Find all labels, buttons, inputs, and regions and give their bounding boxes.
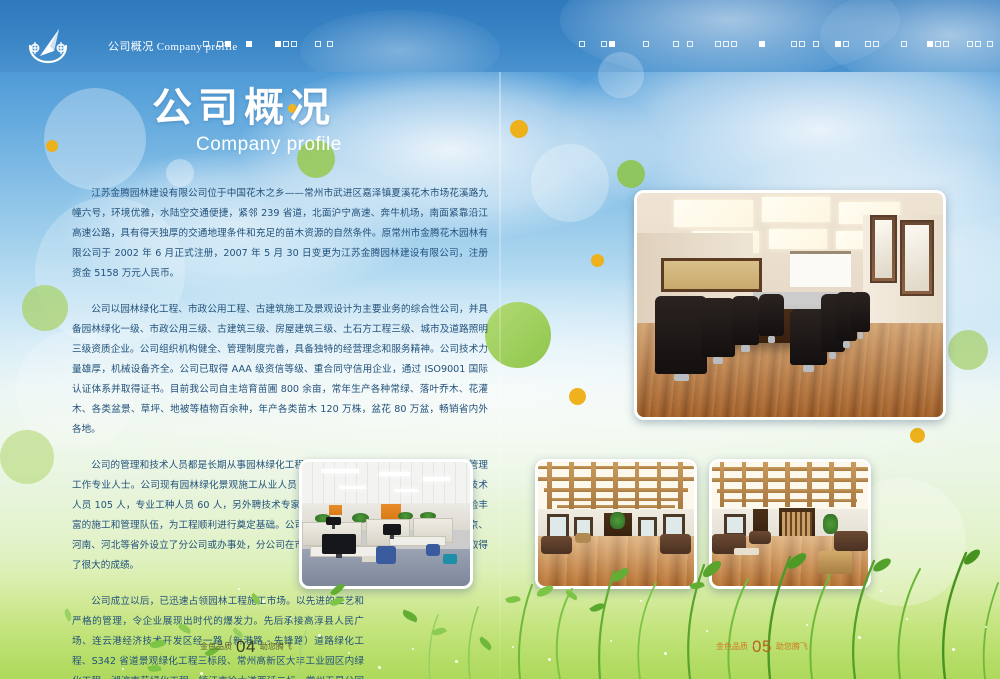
reception-lounge-photo[interactable] <box>709 459 871 589</box>
bubble-decoration <box>166 159 194 187</box>
sofa <box>575 533 591 543</box>
page-subtitle: Company profile <box>196 134 342 156</box>
page-spine <box>499 72 501 679</box>
page-title: 公司概况 <box>152 88 336 128</box>
yellow-dot-decoration <box>569 388 586 405</box>
yellow-dot-decoration <box>46 140 58 152</box>
lounge-hall-photo[interactable] <box>535 459 697 589</box>
conference-room-photo[interactable] <box>634 190 946 420</box>
sparkle <box>512 646 514 648</box>
green-circle-decoration <box>22 285 68 331</box>
bubble-decoration <box>598 52 644 98</box>
paragraph: 公司以园林绿化工程、市政公用工程、古建筑施工及景观设计为主要业务的综合性公司，并… <box>72 300 488 440</box>
green-circle-decoration <box>948 330 988 370</box>
header-nav-label[interactable]: 公司概况 Company profile <box>108 38 238 54</box>
yellow-dot-decoration <box>510 120 528 138</box>
sofa <box>749 531 771 543</box>
sparkle <box>640 600 642 602</box>
sparkle <box>610 640 612 642</box>
sparkle <box>455 660 458 663</box>
sofa <box>660 534 691 554</box>
chair <box>655 296 707 374</box>
chair <box>851 292 869 332</box>
footer-suffix: 助您腾飞 <box>260 642 292 651</box>
sparkle <box>952 648 955 651</box>
sparkle <box>706 630 708 632</box>
footer-prefix: 金色品质 <box>716 642 748 651</box>
paragraph: 江苏金腾园林建设有限公司位于中国花木之乡——常州市武进区嘉泽镇夏溪花木市场花溪路… <box>72 184 488 284</box>
sparkle <box>262 600 265 603</box>
open-office-photo[interactable] <box>299 459 473 589</box>
yellow-dot-decoration <box>910 428 925 443</box>
sparkle <box>806 624 808 626</box>
sparkle <box>238 588 240 590</box>
sparkle <box>548 658 551 661</box>
sofa <box>541 536 572 553</box>
top-header-bar: 公司概况 Company profile <box>0 0 1000 72</box>
sparkle <box>664 652 667 655</box>
chair <box>759 294 783 337</box>
sparkle <box>906 618 908 620</box>
footer-suffix: 助您腾飞 <box>776 642 808 651</box>
sparkle <box>412 648 414 650</box>
green-circle-decoration <box>617 160 645 188</box>
chair <box>732 296 760 345</box>
green-circle-decoration <box>0 430 54 484</box>
yellow-dot-decoration <box>591 254 604 267</box>
sparkle <box>290 618 292 620</box>
page-number: 04 <box>236 637 256 656</box>
sparkle <box>348 652 350 654</box>
sparkle <box>985 626 987 628</box>
green-circle-decoration <box>485 302 551 368</box>
footer-prefix: 金色品质 <box>200 642 232 651</box>
sparkle <box>858 636 861 639</box>
header-cloud <box>820 0 1000 72</box>
sofa <box>834 531 868 551</box>
sparkle <box>880 590 882 592</box>
footer-left: 金色品质04助您腾飞 <box>200 637 292 657</box>
sparkle <box>318 634 321 637</box>
sparkle <box>122 668 124 670</box>
sparkle <box>200 672 203 675</box>
footer-right: 金色品质05助您腾飞 <box>716 637 808 657</box>
flying-leaf <box>564 590 578 601</box>
sparkle <box>378 666 381 669</box>
brochure-page: 公司概况 Company profile 公司概况 Company profil… <box>0 0 1000 679</box>
bubble-decoration <box>44 88 146 190</box>
company-logo[interactable] <box>26 24 70 66</box>
bubble-decoration <box>531 144 609 222</box>
page-number: 05 <box>752 637 772 656</box>
flying-leaf <box>589 601 605 615</box>
chair <box>701 298 735 356</box>
body-text-column: 江苏金腾园林建设有限公司位于中国花木之乡——常州市武进区嘉泽镇夏溪花木市场花溪路… <box>72 184 488 679</box>
flying-leaf <box>505 594 521 605</box>
